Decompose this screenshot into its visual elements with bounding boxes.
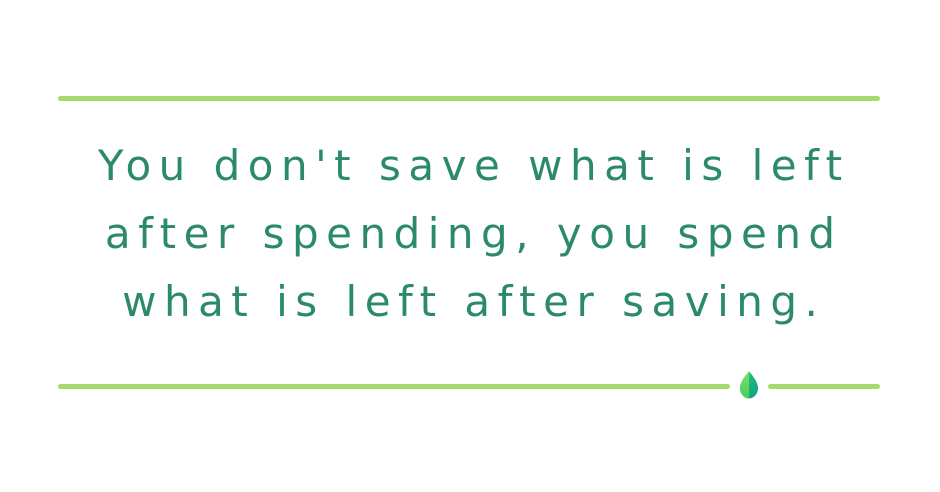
quote-block: You don't save what is left after spendi… [0,132,940,336]
top-divider-rule [58,96,880,101]
bottom-divider-rule-left [58,384,730,389]
quote-line-2: after spending, you spend [0,200,940,268]
bottom-divider-group [58,383,880,389]
quote-line-1: You don't save what is left [0,132,940,200]
leaf-icon [738,371,760,399]
quote-line-3: what is left after saving. [0,268,940,336]
quote-card: You don't save what is left after spendi… [0,0,940,492]
bottom-divider-rule-right [768,384,880,389]
